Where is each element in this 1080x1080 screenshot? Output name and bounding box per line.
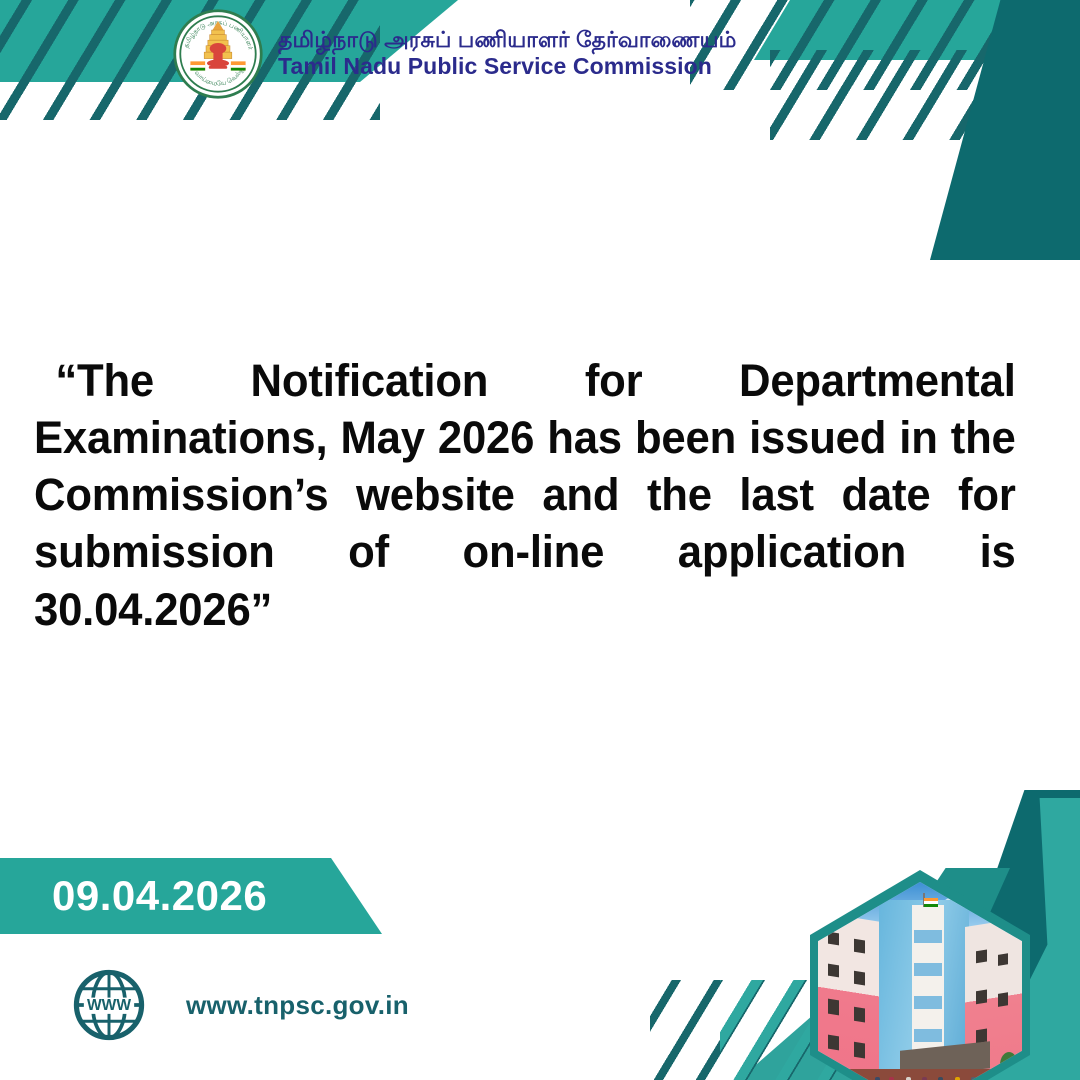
globe-www-icon: WWW [72, 968, 146, 1042]
website-url[interactable]: www.tnpsc.gov.in [186, 990, 409, 1021]
tnpsc-emblem-icon: தமிழ்நாடு அரசுப் பணியாளர் தேர்வாணையம் வா… [172, 8, 264, 100]
poster-canvas: தமிழ்நாடு அரசுப் பணியாளர் தேர்வாணையம் வா… [0, 0, 1080, 1080]
header-title-tamil: தமிழ்நாடு அரசுப் பணியாளர் தேர்வாணையம் [278, 27, 737, 53]
bottom-right-graphic [620, 790, 1080, 1080]
indian-flag-icon [924, 898, 938, 907]
header-titles: தமிழ்நாடு அரசுப் பணியாளர் தேர்வாணையம் Ta… [278, 27, 737, 80]
globe-www-label: WWW [87, 997, 131, 1014]
header: தமிழ்நாடு அரசுப் பணியாளர் தேர்வாணையம் வா… [172, 8, 737, 100]
header-title-english: Tamil Nadu Public Service Commission [278, 53, 737, 80]
website-footer: WWW www.tnpsc.gov.in [72, 968, 409, 1042]
date-banner-text: 09.04.2026 [52, 872, 267, 920]
announcement-text: “The Notification for Departmental Exami… [34, 352, 1016, 695]
date-banner: 09.04.2026 [0, 858, 382, 934]
